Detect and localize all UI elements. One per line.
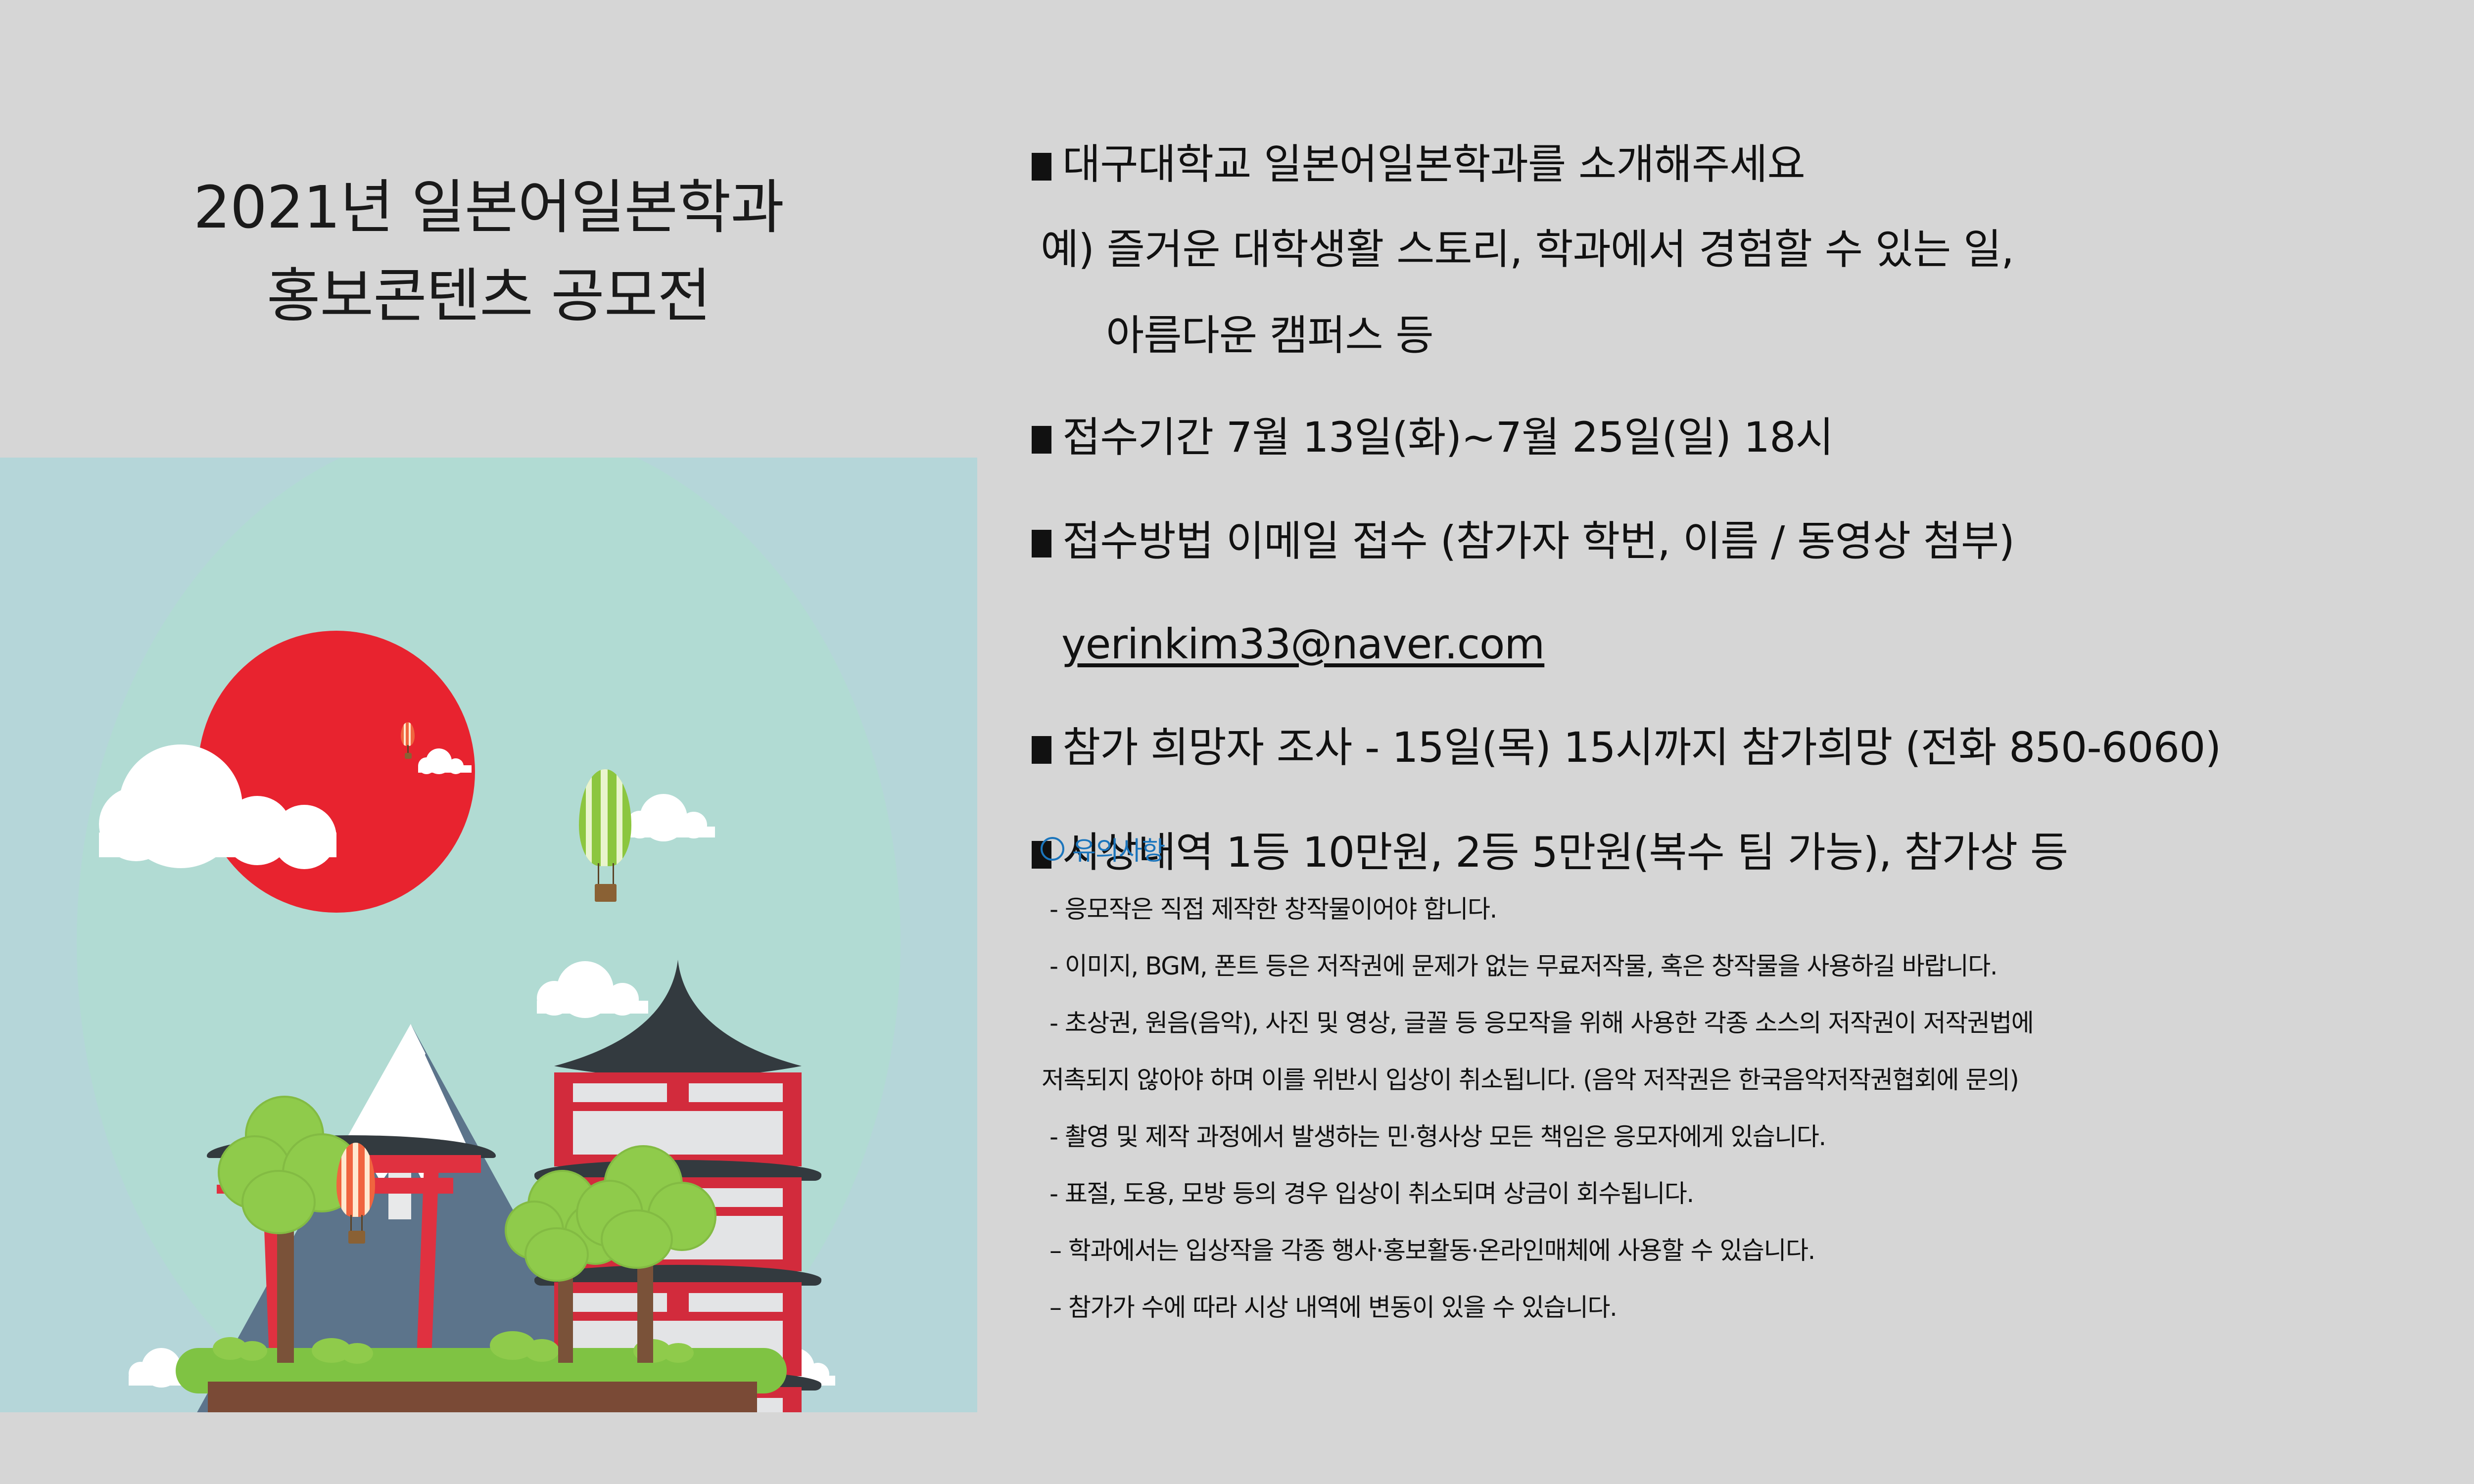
note-text: – 학과에서는 입상작을 각종 행사·홍보활동·온라인매체에 사용할 수 있습니… — [1049, 1236, 1815, 1265]
note-text: - 표절, 도용, 모방 등의 경우 입상이 취소되며 상금이 회수됩니다. — [1049, 1179, 1694, 1208]
hot-air-balloon-red-icon — [336, 1143, 381, 1256]
note-item: - 이미지, BGM, 폰트 등은 저작권에 문제가 없는 무료저작물, 혹은 … — [1049, 954, 1997, 978]
bullet-example-text-2: 아름다운 캠퍼스 등 — [1106, 311, 1433, 360]
note-text: - 응모작은 직접 제작한 창작물이어야 합니다. — [1049, 895, 1497, 924]
note-item: - 촬영 및 제작 과정에서 발생하는 민·형사상 모든 책임은 응모자에게 있… — [1049, 1124, 1826, 1149]
bullet-intro-text: 대구대학교 일본어일본학과를 소개해주세요 — [1062, 140, 1805, 188]
hot-air-balloon-red-small-icon — [401, 722, 417, 763]
cloud-small-top-icon — [418, 748, 475, 773]
note-item: - 초상권, 원음(음악), 사진 및 영상, 글꼴 등 응모작을 위해 사용한… — [1049, 1011, 2033, 1035]
bullet-period-text: 접수기간 7월 13일(화)~7월 25일(일) 18시 — [1062, 413, 1833, 462]
bullet-square-icon — [1032, 426, 1051, 454]
bullet-example-line-1: 예) 즐거운 대학생활 스토리, 학과에서 경험할 수 있는 일, — [1032, 229, 2474, 270]
note-text: – 참가가 수에 따라 시상 내역에 변동이 있을 수 있습니다. — [1049, 1293, 1617, 1322]
note-item: - 표절, 도용, 모방 등의 경우 입상이 취소되며 상금이 회수됩니다. — [1049, 1181, 1694, 1206]
bullet-example-text-1: 예) 즐거운 대학생활 스토리, 학과에서 경험할 수 있는 일, — [1041, 225, 2014, 274]
bullet-prizes: 시상내역 1등 10만원, 2등 5만원(복수 팀 가능), 참가상 등 — [1032, 832, 2474, 873]
bullet-square-icon — [1032, 153, 1051, 181]
note-item-continuation: 저촉되지 않아야 하며 이를 위반시 입상이 취소됩니다. (음악 저작권은 한… — [1042, 1067, 2018, 1092]
bullet-survey: 참가 희망자 조사 - 15일(목) 15시까지 참가희망 (전화 850-60… — [1032, 727, 2474, 768]
notes-heading-text: 유의사항 — [1072, 836, 1165, 866]
bullet-square-icon — [1032, 530, 1051, 557]
tree-icon — [574, 1145, 717, 1363]
japan-landmark-illustration — [0, 458, 977, 1412]
cloud-large-icon — [99, 744, 356, 843]
page-title: 2021년 일본어일본학과 홍보콘텐츠 공모전 — [0, 163, 977, 341]
title-line-1: 2021년 일본어일본학과 — [0, 163, 977, 252]
note-text: 저촉되지 않아야 하며 이를 위반시 입상이 취소됩니다. (음악 저작권은 한… — [1042, 1066, 2018, 1094]
email-link[interactable]: yerinkim33@naver.com — [1061, 620, 1544, 668]
note-text: - 초상권, 원음(음악), 사진 및 영상, 글꼴 등 응모작을 위해 사용한… — [1049, 1009, 2033, 1037]
circle-marker-icon — [1041, 837, 1064, 861]
bullet-period: 접수기간 7월 13일(화)~7월 25일(일) 18시 — [1032, 417, 2474, 458]
bullet-prizes-text: 시상내역 1등 10만원, 2등 5만원(복수 팀 가능), 참가상 등 — [1062, 828, 2068, 877]
bullet-square-icon — [1032, 736, 1051, 764]
bullet-method: 접수방법 이메일 접수 (참가자 학번, 이름 / 동영상 첨부) — [1032, 520, 2474, 562]
poster-left-column: 2021년 일본어일본학과 홍보콘텐츠 공모전 — [0, 0, 977, 1484]
cloud-right-icon — [626, 794, 725, 834]
soil-platform — [208, 1382, 757, 1412]
bullet-example-line-2: 아름다운 캠퍼스 등 — [1032, 315, 2474, 356]
hot-air-balloon-green-icon — [579, 769, 638, 918]
note-item: – 참가가 수에 따라 시상 내역에 변동이 있을 수 있습니다. — [1049, 1295, 1617, 1320]
email-line: yerinkim33@naver.com — [1032, 623, 2474, 665]
note-text: - 이미지, BGM, 폰트 등은 저작권에 문제가 없는 무료저작물, 혹은 … — [1049, 952, 1997, 980]
poster-right-column: 대구대학교 일본어일본학과를 소개해주세요 예) 즐거운 대학생활 스토리, 학… — [1032, 0, 2474, 1484]
note-item: - 응모작은 직접 제작한 창작물이어야 합니다. — [1049, 897, 1497, 922]
notes-heading: 유의사항 — [1041, 830, 1165, 867]
bullet-intro: 대구대학교 일본어일본학과를 소개해주세요 — [1032, 143, 2474, 185]
title-line-2: 홍보콘텐츠 공모전 — [0, 252, 977, 340]
note-text: - 촬영 및 제작 과정에서 발생하는 민·형사상 모든 책임은 응모자에게 있… — [1049, 1122, 1826, 1151]
bullet-method-text: 접수방법 이메일 접수 (참가자 학번, 이름 / 동영상 첨부) — [1062, 517, 2014, 565]
bullet-survey-text: 참가 희망자 조사 - 15일(목) 15시까지 참가희망 (전화 850-60… — [1062, 723, 2221, 772]
note-item: – 학과에서는 입상작을 각종 행사·홍보활동·온라인매체에 사용할 수 있습니… — [1049, 1238, 1815, 1263]
